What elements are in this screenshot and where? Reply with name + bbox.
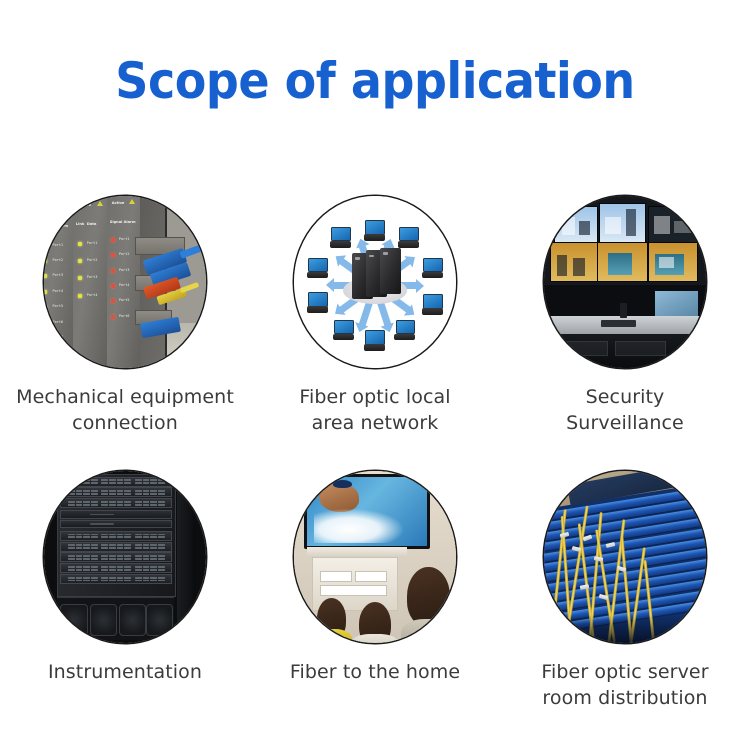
- scope-of-application-infographic: Scope of application Active Signal Alarm…: [0, 0, 750, 750]
- television: [304, 474, 430, 549]
- application-item-caption: Fiber to the home: [258, 659, 493, 685]
- application-item-caption: Instrumentation: [8, 659, 243, 685]
- page-title: Scope of application: [30, 52, 720, 110]
- application-item-fiber-optic-server-room-distribution[interactable]: Fiber optic server room distribution: [500, 471, 750, 746]
- application-grid: Active Signal Alarm Port1 Port2 Port3 Po…: [0, 196, 750, 746]
- thumbnail-wrap: [294, 471, 456, 643]
- thumbnail-wrap: [544, 196, 706, 368]
- application-item-caption: Mechanical equipment connection: [8, 384, 243, 436]
- mechanical-equipment-connection-image: Active Signal Alarm Port1 Port2 Port3 Po…: [44, 196, 206, 368]
- application-item-caption: Fiber optic server room distribution: [508, 659, 743, 711]
- fiber-to-the-home-image: [294, 471, 456, 643]
- fiber-optic-server-room-distribution-image: [544, 471, 706, 643]
- application-item-security-surveillance[interactable]: Security Surveillance: [500, 196, 750, 471]
- keyboard: [601, 320, 637, 327]
- desk-camera: [620, 303, 626, 318]
- application-item-instrumentation[interactable]: Instrumentation: [0, 471, 250, 746]
- thumbnail-wrap: Active Signal Alarm Port1 Port2 Port3 Po…: [44, 196, 206, 368]
- application-item-caption: Fiber optic local area network: [258, 384, 493, 436]
- application-item-fiber-optic-local-area-network[interactable]: Fiber optic local area network: [250, 196, 500, 471]
- application-item-caption: Security Surveillance: [508, 384, 743, 436]
- thumbnail-wrap: [44, 471, 206, 643]
- security-surveillance-image: [544, 196, 706, 368]
- application-item-mechanical-equipment-connection[interactable]: Active Signal Alarm Port1 Port2 Port3 Po…: [0, 196, 250, 471]
- application-item-fiber-to-the-home[interactable]: Fiber to the home: [250, 471, 500, 746]
- thumbnail-wrap: [544, 471, 706, 643]
- instrumentation-image: [44, 471, 206, 643]
- thumbnail-wrap: [294, 196, 456, 368]
- fiber-optic-local-area-network-image: [294, 196, 456, 368]
